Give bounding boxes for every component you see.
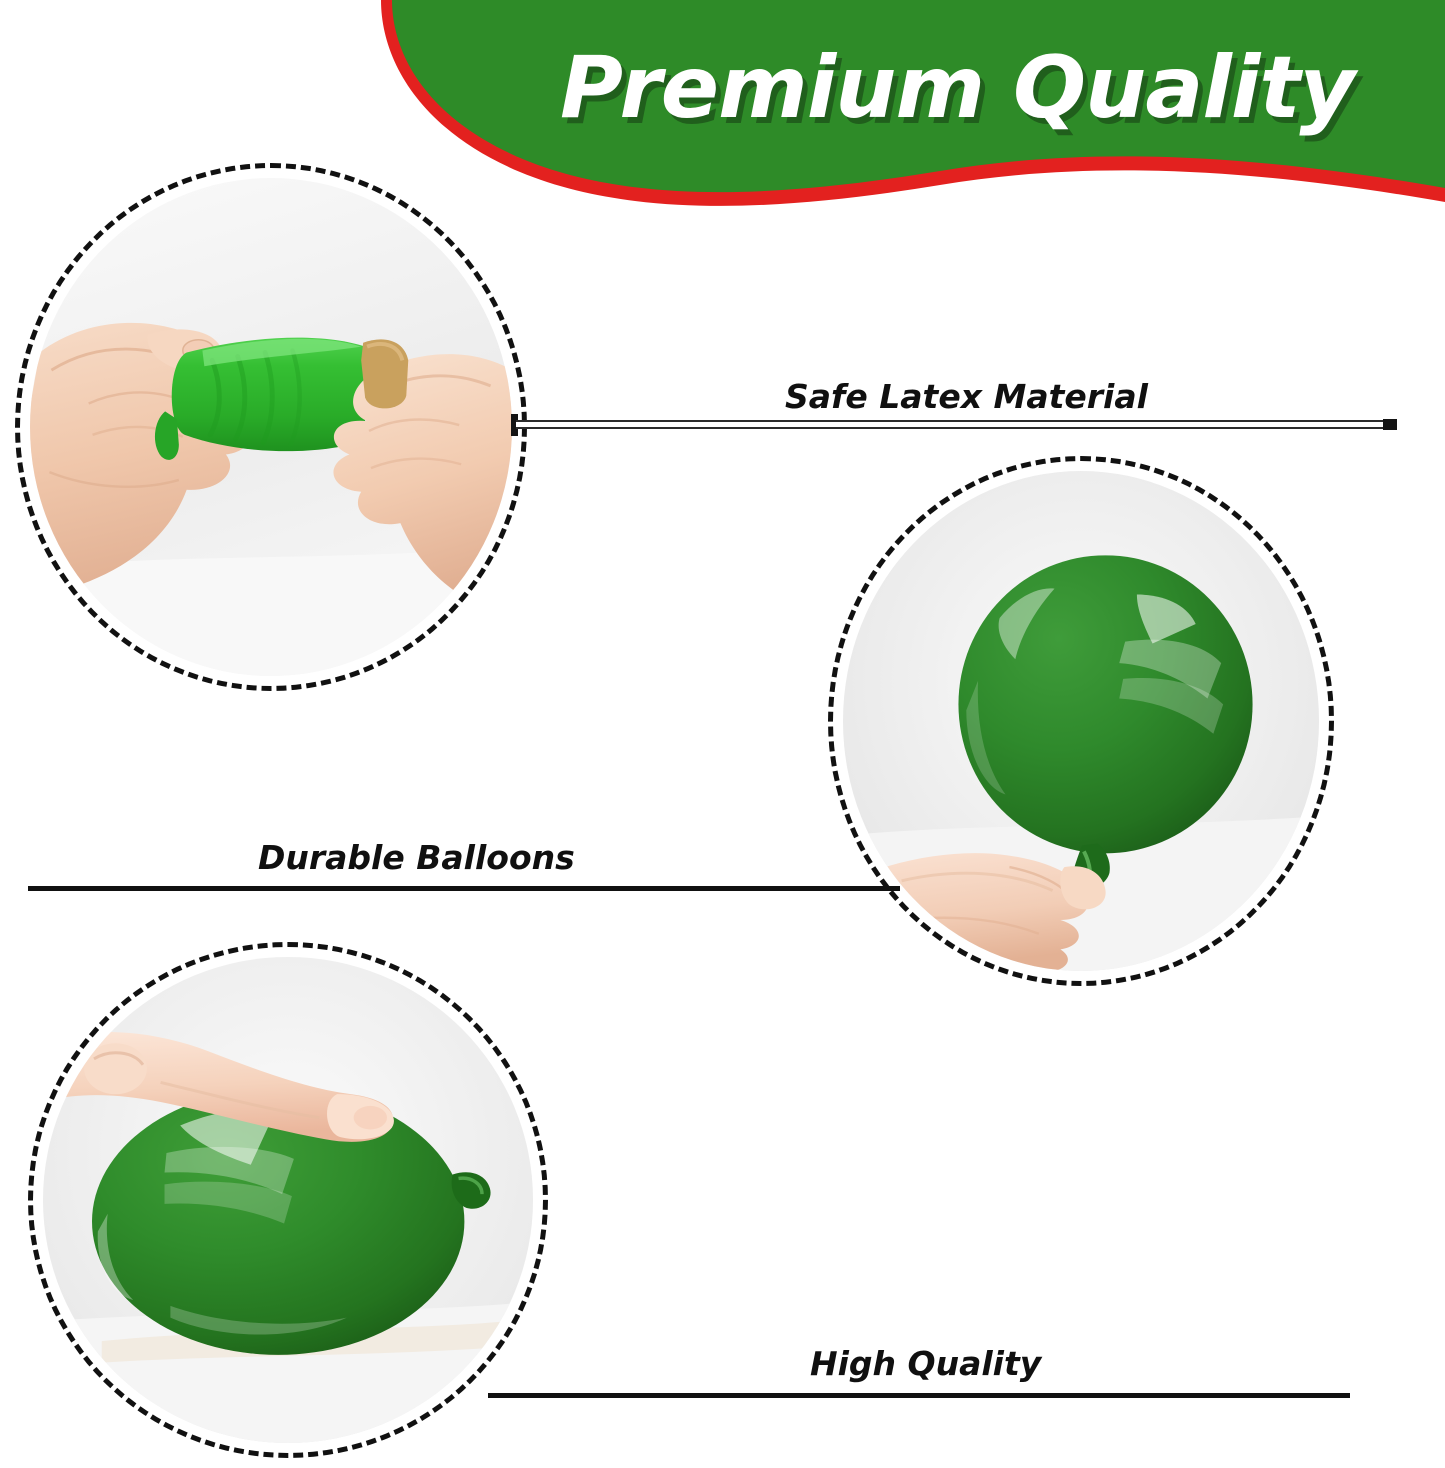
rule-endcap-right-safe-latex-material	[1383, 419, 1397, 430]
label-durable-balloons: Durable Balloons	[258, 838, 575, 877]
label-safe-latex-material: Safe Latex Material	[785, 377, 1148, 416]
label-high-quality: High Quality	[810, 1344, 1041, 1383]
banner-title: Premium Quality	[560, 38, 1420, 138]
feature-photo-safe-latex-material	[15, 163, 527, 691]
photo-stretching-balloon	[30, 178, 512, 676]
feature-photo-high-quality	[28, 942, 548, 1458]
infographic-page: Premium Quality	[0, 0, 1445, 1468]
rule-safe-latex-material	[516, 420, 1396, 429]
photo-pressing-balloon	[43, 957, 533, 1443]
feature-photo-durable-balloons	[828, 456, 1334, 986]
banner-green-shape	[392, 0, 1445, 192]
photo-holding-balloon	[843, 471, 1319, 971]
rule-durable-balloons	[28, 886, 900, 891]
banner-red-wave	[381, 0, 1445, 206]
rule-high-quality	[488, 1393, 1350, 1398]
